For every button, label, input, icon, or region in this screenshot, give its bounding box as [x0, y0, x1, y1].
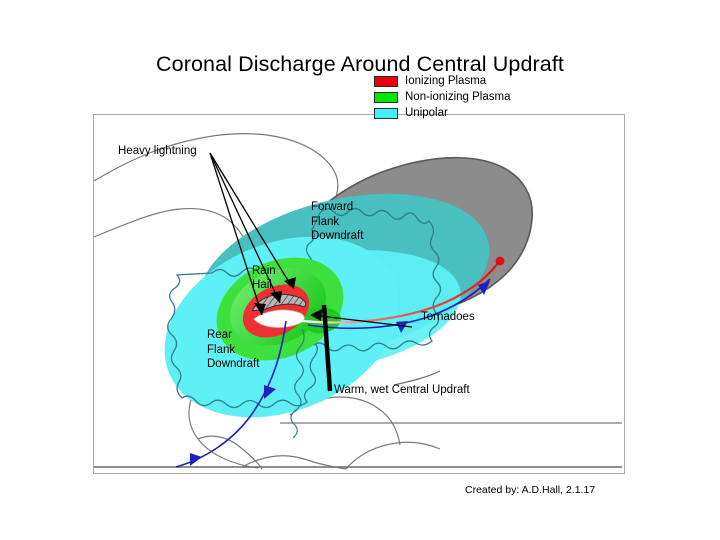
label-rain: Rain [252, 264, 276, 279]
label-heavy-lightning: Heavy lightning [118, 144, 197, 159]
label-rear-flank-downdraft: Rear Flank Downdraft [207, 328, 259, 372]
legend-swatch-non-ionizing-plasma [374, 92, 398, 103]
cold-front-barb-left-2 [190, 453, 202, 466]
legend-label-non-ionizing-plasma: Non-ionizing Plasma [405, 91, 510, 103]
label-forward-flank-downdraft: Forward Flank Downdraft [311, 200, 363, 244]
label-tornadoes: Tornadoes [421, 310, 475, 325]
legend: Ionizing Plasma Non-ionizing Plasma Unip… [374, 74, 524, 122]
legend-swatch-unipolar [374, 108, 398, 119]
legend-swatch-ionizing-plasma [374, 76, 398, 87]
legend-label-ionizing-plasma: Ionizing Plasma [405, 75, 486, 87]
legend-label-unipolar: Unipolar [405, 107, 448, 119]
storm-diagram-graphic [94, 115, 622, 471]
label-hail: Hail [252, 278, 272, 293]
footer-credit: Created by: A.D.Hall, 2.1.17 [465, 484, 595, 496]
label-central-updraft: Warm, wet Central Updraft [334, 383, 470, 398]
warm-front-bump [496, 257, 505, 266]
storm-diagram: Heavy lightning Forward Flank Downdraft … [93, 114, 625, 474]
legend-item-unipolar: Unipolar [374, 106, 524, 120]
legend-item-non-ionizing-plasma: Non-ionizing Plasma [374, 90, 524, 104]
slide-canvas: Coronal Discharge Around Central Updraft [0, 0, 720, 540]
page-title: Coronal Discharge Around Central Updraft [0, 52, 720, 77]
legend-item-ionizing-plasma: Ionizing Plasma [374, 74, 524, 88]
